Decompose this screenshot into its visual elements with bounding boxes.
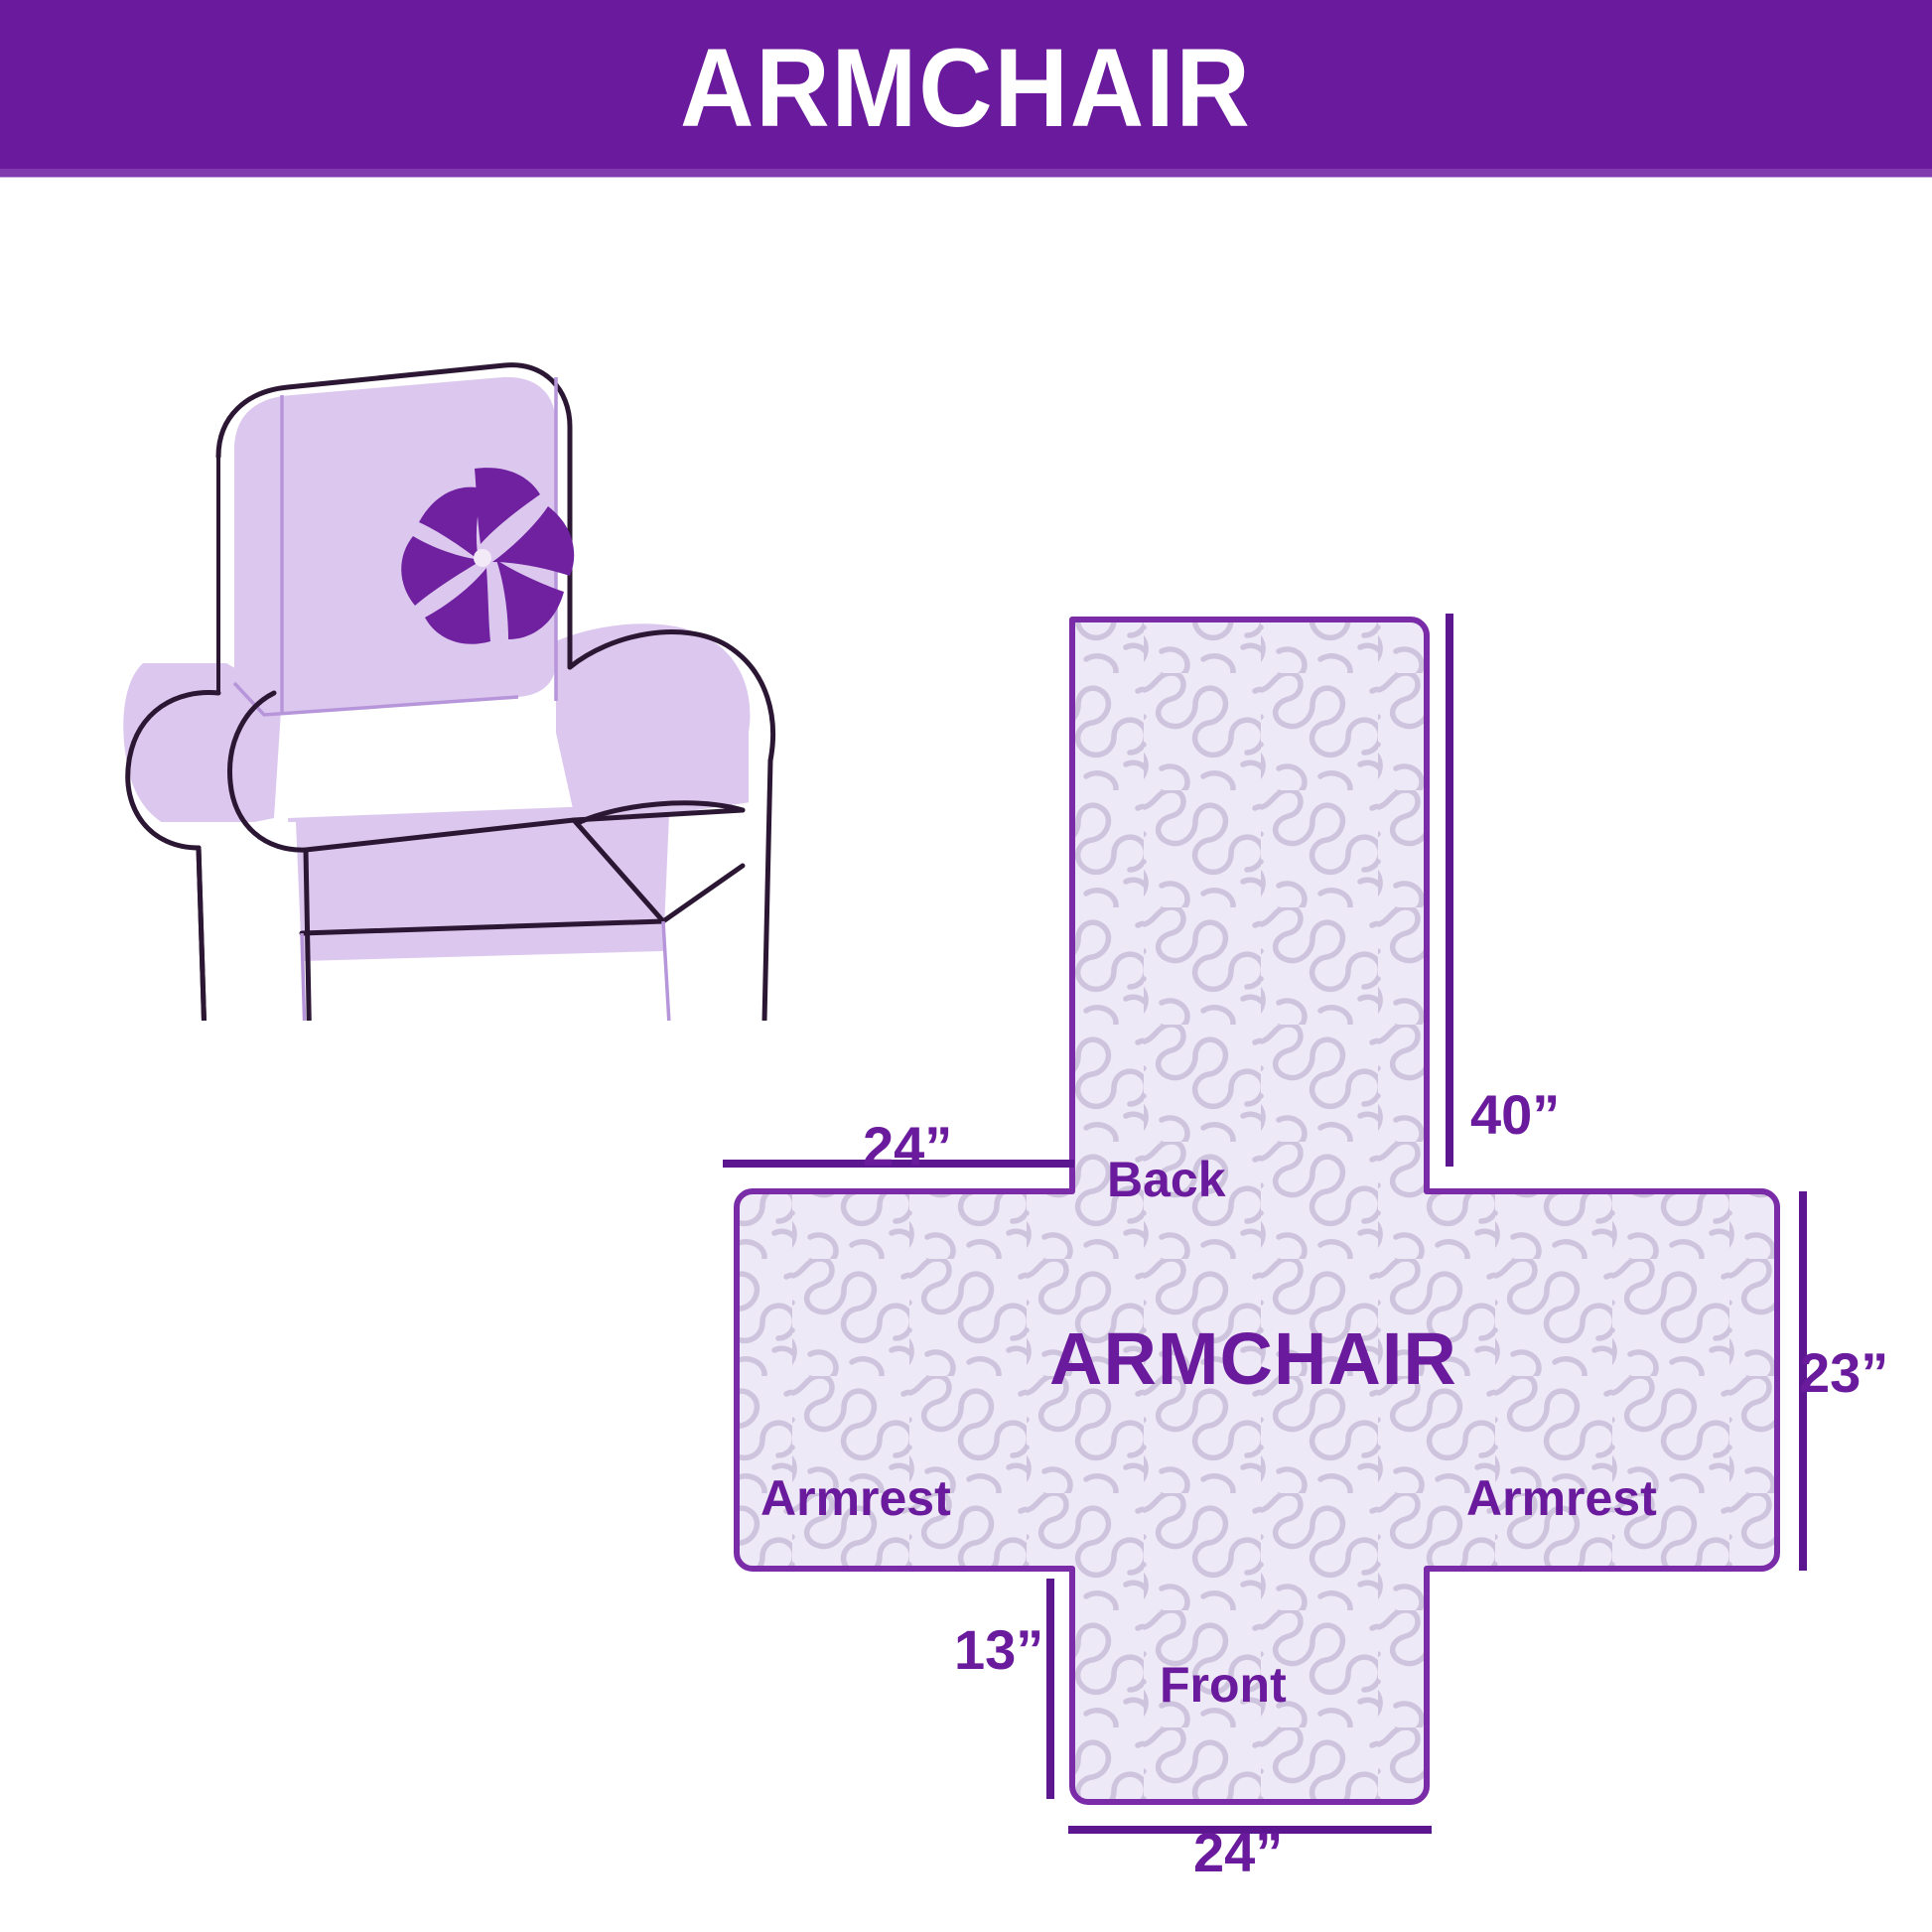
page-title: ARMCHAIR (680, 33, 1252, 144)
panel-label-armrest-right: Armrest (1466, 1473, 1657, 1523)
banner-bottom-edge (0, 169, 1932, 178)
panel-label-center: ARMCHAIR (1049, 1322, 1457, 1396)
dimension-front-width: 24” (1193, 1825, 1283, 1880)
panel-label-front: Front (1160, 1660, 1287, 1710)
dimension-front-height: 13” (954, 1622, 1043, 1678)
chair-left-armrest (123, 663, 282, 833)
panel-label-back: Back (1107, 1155, 1226, 1204)
cover-shape (737, 620, 1777, 1802)
slipcover-cross-diagram (675, 556, 1932, 1876)
dimension-back-height: 40” (1470, 1087, 1560, 1143)
header-banner: ARMCHAIR (0, 0, 1932, 177)
panel-label-armrest-left: Armrest (760, 1473, 951, 1523)
size-chart-page: ARMCHAIR .ol{fill:none;stroke:#2B1733;st… (0, 0, 1932, 1932)
dimension-back-width: 24” (863, 1119, 952, 1174)
dimension-arm-depth: 23” (1799, 1345, 1888, 1401)
